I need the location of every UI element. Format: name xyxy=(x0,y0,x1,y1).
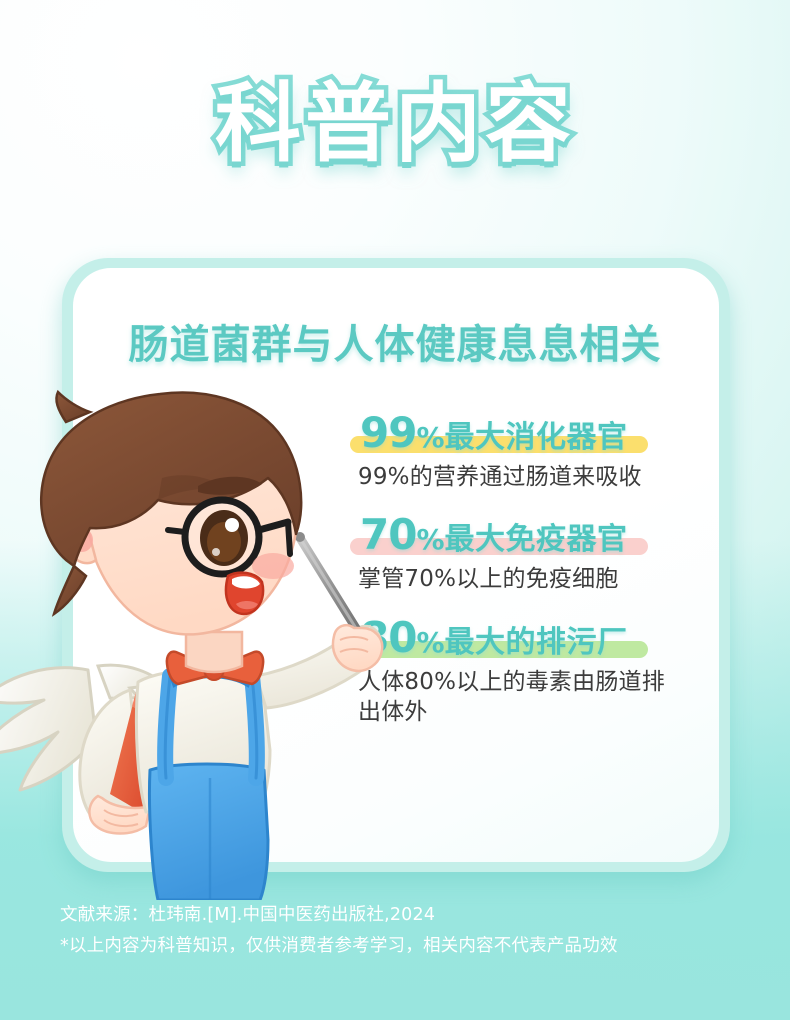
fact-label: 最大消化器官 xyxy=(445,420,628,455)
promo-page: 科普内容 肠道菌群与人体健康息息相关 99%最大消化器官 99%的营养通过肠道来… xyxy=(0,0,790,1020)
page-title-container: 科普内容 xyxy=(0,76,790,172)
section-heading: 肠道菌群与人体健康息息相关 xyxy=(0,312,790,370)
fact-percent: 70 xyxy=(360,510,416,559)
footer-notes: 文献来源：杜玮南.[M].中国中医药出版社,2024 *以上内容为科普知识，仅供… xyxy=(60,900,618,961)
fact-description: 人体80%以上的毒素由肠道排出体外 xyxy=(358,667,688,728)
fact-item: 80%最大的排污厂 人体80%以上的毒素由肠道排出体外 xyxy=(358,617,688,728)
fact-percent: 80 xyxy=(360,613,416,662)
fact-headline: 99%最大消化器官 xyxy=(358,412,632,454)
fact-description: 99%的营养通过肠道来吸收 xyxy=(358,462,688,492)
fact-percent-sign: % xyxy=(416,421,444,454)
footer-source: 文献来源：杜玮南.[M].中国中医药出版社,2024 xyxy=(60,900,618,931)
fact-label: 最大的排污厂 xyxy=(445,625,628,660)
fact-percent-sign: % xyxy=(416,626,444,659)
fact-percent: 99 xyxy=(360,408,416,457)
footer-disclaimer: *以上内容为科普知识，仅供消费者参考学习，相关内容不代表产品功效 xyxy=(60,931,618,962)
fact-item: 70%最大免疫器官 掌管70%以上的免疫细胞 xyxy=(358,514,688,594)
page-title: 科普内容 xyxy=(215,76,575,172)
fact-label: 最大免疫器官 xyxy=(445,522,628,557)
facts-list: 99%最大消化器官 99%的营养通过肠道来吸收 70%最大免疫器官 掌管70%以… xyxy=(358,412,688,727)
fact-headline: 80%最大的排污厂 xyxy=(358,617,632,659)
fact-item: 99%最大消化器官 99%的营养通过肠道来吸收 xyxy=(358,412,688,492)
fact-percent-sign: % xyxy=(416,523,444,556)
fact-headline: 70%最大免疫器官 xyxy=(358,514,632,556)
fact-description: 掌管70%以上的免疫细胞 xyxy=(358,564,688,594)
